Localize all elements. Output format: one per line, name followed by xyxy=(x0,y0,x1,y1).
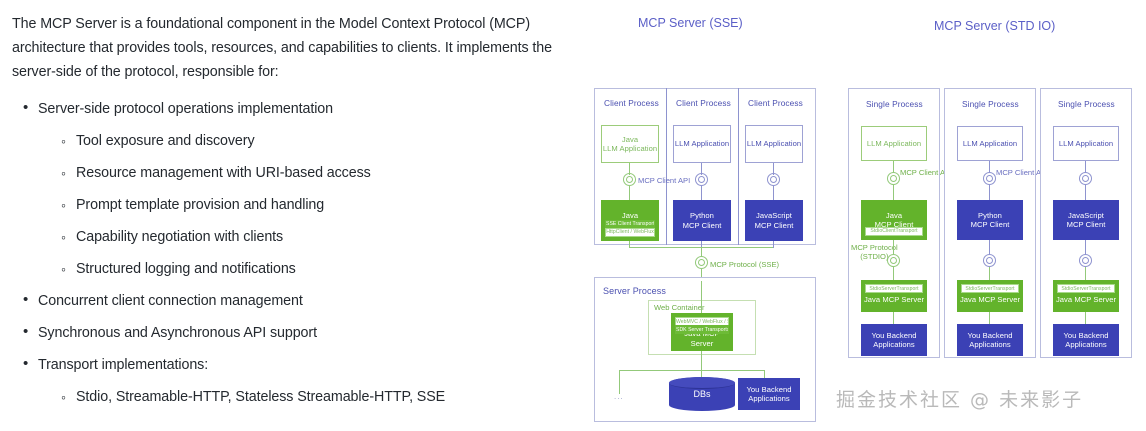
sse-client-1-process-label: Client Process xyxy=(604,98,659,108)
list-item: Capability negotiation with clients xyxy=(76,226,572,248)
connector xyxy=(1085,185,1086,200)
backend-line-1: You Backend xyxy=(871,331,916,341)
bullet-text: Server-side protocol operations implemen… xyxy=(38,101,333,117)
feature-list: Server-side protocol operations implemen… xyxy=(12,98,572,408)
connector xyxy=(893,185,894,200)
list-item: Structured logging and notifications xyxy=(76,258,572,280)
connector xyxy=(989,312,990,324)
stdio-2-server-box: StdioServerTransport Java MCP Server xyxy=(957,280,1023,312)
app-line-1: Java xyxy=(622,135,638,145)
intro-paragraph: The MCP Server is a foundational compone… xyxy=(12,12,572,84)
sse-client-3-box: JavaScript MCP Client xyxy=(745,200,803,241)
client-line-1: Python xyxy=(978,211,1002,221)
stdio-3-client-box: JavaScript MCP Client xyxy=(1053,200,1119,240)
list-item: Tool exposure and discovery xyxy=(76,130,572,152)
connector xyxy=(701,281,702,313)
architecture-diagram: MCP Server (SSE) MCP Server (STD IO) Cli… xyxy=(586,0,1146,431)
backend-line-2: Applications xyxy=(748,394,790,404)
bullet-text: Transport implementations: xyxy=(38,357,208,373)
client-line-1: Java xyxy=(886,211,902,221)
client-line-1: Python xyxy=(690,211,714,221)
sse-panel-title: MCP Server (SSE) xyxy=(638,16,743,30)
mcp-protocol-sse-socket-icon xyxy=(695,256,708,269)
list-item: Synchronous and Asynchronous API support xyxy=(38,322,572,344)
divider xyxy=(738,88,739,245)
app-label: LLM Application xyxy=(867,139,921,149)
connector xyxy=(629,241,630,248)
connector xyxy=(989,185,990,200)
connector xyxy=(773,186,774,200)
sse-client-3-process-label: Client Process xyxy=(748,98,803,108)
client-line-1: JavaScript xyxy=(756,211,792,221)
stdio-3-server-box: StdioServerTransport Java MCP Server xyxy=(1053,280,1119,312)
mcp-protocol-stdio-socket-icon xyxy=(1079,254,1092,267)
divider xyxy=(666,88,667,245)
mcp-client-api-socket-icon xyxy=(767,173,780,186)
httpclient-webflux-strip: HttpClient / WebFlux xyxy=(605,228,655,237)
backend-line-1: You Backend xyxy=(746,385,791,395)
database-cylinder: DBs xyxy=(669,377,735,411)
stdio-1-backend-box: You Backend Applications xyxy=(861,324,927,356)
stdio-3-backend-box: You Backend Applications xyxy=(1053,324,1119,356)
app-label: LLM Application xyxy=(963,139,1017,149)
list-item: Server-side protocol operations implemen… xyxy=(38,98,572,280)
connector xyxy=(1085,240,1086,255)
stdio-client-transport-strip: StdioClientTransport xyxy=(865,227,923,236)
app-line-2: LLM Application xyxy=(603,144,657,154)
sse-client-2-process-label: Client Process xyxy=(676,98,731,108)
sdk-transports-strip-2: SDK Server Transports xyxy=(675,325,729,334)
connector xyxy=(619,370,620,394)
mcp-client-api-socket-icon xyxy=(887,172,900,185)
stdio-2-backend-box: You Backend Applications xyxy=(957,324,1023,356)
connector xyxy=(701,351,702,370)
stdio-2-app-box: LLM Application xyxy=(957,126,1023,161)
web-container-label: Web Container xyxy=(654,303,705,312)
sse-protocol-label: MCP Protocol (SSE) xyxy=(710,260,779,269)
stdio-3-app-box: LLM Application xyxy=(1053,126,1119,161)
stdio-1-client-box: Java MCP Client StdioClientTransport xyxy=(861,200,927,240)
connector xyxy=(701,186,702,200)
list-item: Concurrent client connection management xyxy=(38,290,572,312)
list-item: Stdio, Streamable-HTTP, Stateless Stream… xyxy=(76,386,572,408)
list-item: Prompt template provision and handling xyxy=(76,194,572,216)
db-label: DBs xyxy=(693,389,710,399)
app-line-2: LLM Application xyxy=(675,139,729,149)
connector xyxy=(1085,312,1086,324)
sub-list: Stdio, Streamable-HTTP, Stateless Stream… xyxy=(38,386,572,408)
mcp-protocol-stdio-socket-icon xyxy=(983,254,996,267)
mcp-client-api-socket-icon xyxy=(983,172,996,185)
java-mcp-server-label: Java MCP Server xyxy=(960,295,1020,305)
bullet-text: Synchronous and Asynchronous API support xyxy=(38,325,317,341)
client-line-2: MCP Client xyxy=(683,221,722,231)
client-line-2: MCP Client xyxy=(1067,220,1106,230)
article-column: The MCP Server is a foundational compone… xyxy=(0,0,586,431)
java-mcp-server-label: Java MCP Server xyxy=(1056,295,1116,305)
stdio-server-transport-strip: StdioServerTransport xyxy=(1057,284,1115,293)
client-line-1: JavaScript xyxy=(1068,211,1104,221)
sse-client-3-app-box: LLM Application xyxy=(745,125,803,163)
sse-backend-applications-box: You Backend Applications xyxy=(738,378,800,410)
stdio-2-process-label: Single Process xyxy=(962,99,1019,109)
backend-bus xyxy=(619,370,764,371)
mcp-protocol-stdio-socket-icon xyxy=(887,254,900,267)
sse-client-1-app-box: Java LLM Application xyxy=(601,125,659,163)
backend-line-2: Applications xyxy=(873,340,915,350)
mcp-client-api-socket-icon xyxy=(1079,172,1092,185)
java-mcp-server-box-sse: WebMVC / WebFlux / Stdio SDK Server Tran… xyxy=(671,313,733,351)
stdio-1-process-label: Single Process xyxy=(866,99,923,109)
list-item: Transport implementations: Stdio, Stream… xyxy=(38,354,572,408)
connector xyxy=(893,267,894,280)
connector xyxy=(1085,267,1086,280)
protocol-line-1: MCP Protocol xyxy=(851,243,898,252)
stdio-1-app-box: LLM Application xyxy=(861,126,927,161)
app-label: LLM Application xyxy=(1059,139,1113,149)
list-item: Resource management with URI-based acces… xyxy=(76,162,572,184)
server-process-label: Server Process xyxy=(603,286,666,296)
stdio-panel-title: MCP Server (STD IO) xyxy=(934,19,1055,33)
sse-client-1-api-label: MCP Client API xyxy=(638,176,690,185)
watermark: 掘金技术社区 @ 未来影子 xyxy=(836,385,1083,412)
backend-line-1: You Backend xyxy=(967,331,1012,341)
sse-client-1-box: Java MCP Client SSE Client Transports Ht… xyxy=(601,200,659,241)
connector xyxy=(893,240,894,255)
app-line-2: LLM Application xyxy=(747,139,801,149)
backend-line-2: Applications xyxy=(969,340,1011,350)
connector xyxy=(629,186,630,200)
connector xyxy=(764,370,765,378)
stdio-server-transport-strip: StdioServerTransport xyxy=(961,284,1019,293)
stdio-server-transport-strip: StdioServerTransport xyxy=(865,284,923,293)
connector xyxy=(773,241,774,248)
stdio-3-process-label: Single Process xyxy=(1058,99,1115,109)
java-mcp-server-label: Java MCP Server xyxy=(864,295,924,305)
sse-client-2-box: Python MCP Client xyxy=(673,200,731,241)
client-line-2: MCP Client xyxy=(971,220,1010,230)
mcp-client-api-socket-icon xyxy=(695,173,708,186)
stdio-1-server-box: StdioServerTransport Java MCP Server xyxy=(861,280,927,312)
connector xyxy=(893,312,894,324)
mcp-client-api-socket-icon xyxy=(623,173,636,186)
bullet-text: Concurrent client connection management xyxy=(38,293,303,309)
backend-line-1: You Backend xyxy=(1063,331,1108,341)
connector xyxy=(989,267,990,280)
sub-list: Tool exposure and discovery Resource man… xyxy=(38,130,572,280)
connector xyxy=(989,240,990,255)
stdio-2-client-box: Python MCP Client xyxy=(957,200,1023,240)
client-line-2: MCP Client xyxy=(755,221,794,231)
sse-client-2-app-box: LLM Application xyxy=(673,125,731,163)
backend-line-2: Applications xyxy=(1065,340,1107,350)
ellipsis-marker: ... xyxy=(614,392,624,401)
page-root: The MCP Server is a foundational compone… xyxy=(0,0,1146,431)
